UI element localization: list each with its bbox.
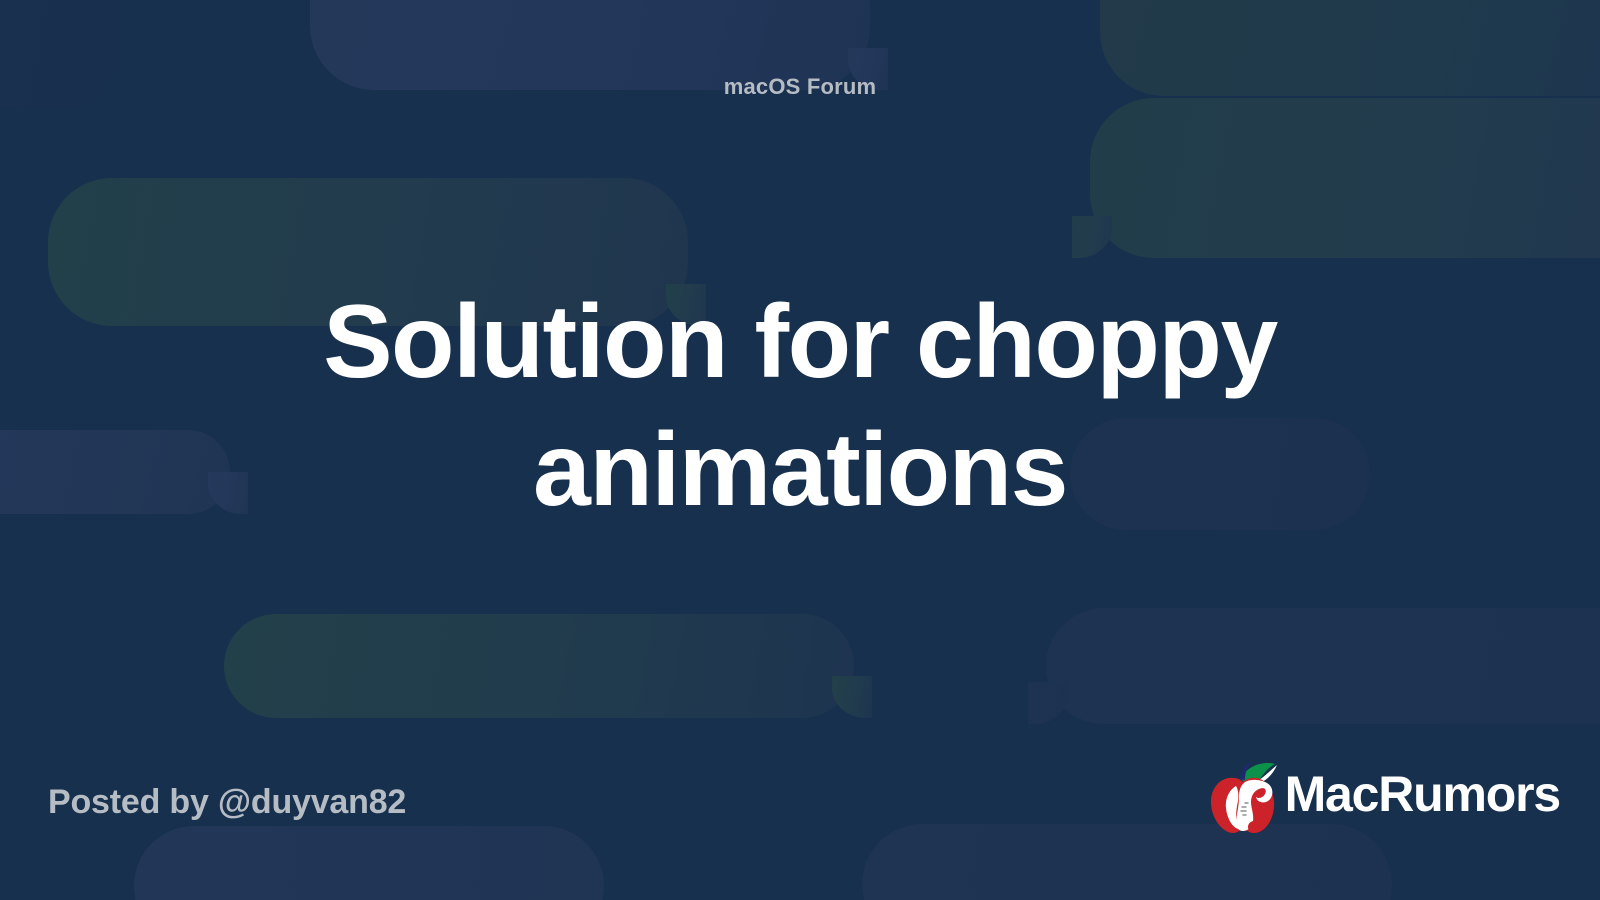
macrumors-brand-lockup[interactable]: MacRumors (1205, 756, 1560, 836)
posted-by-label: Posted by @duyvan82 (48, 783, 406, 822)
page-title: Solution for choppy animations (120, 278, 1480, 534)
forum-label: macOS Forum (0, 74, 1600, 100)
macrumors-wordmark: MacRumors (1285, 769, 1560, 823)
macrumors-apple-logo-icon (1205, 756, 1281, 836)
card-content: macOS Forum Solution for choppy animatio… (0, 0, 1600, 900)
title-container: Solution for choppy animations (120, 278, 1480, 534)
forum-share-card: macOS Forum Solution for choppy animatio… (0, 0, 1600, 900)
